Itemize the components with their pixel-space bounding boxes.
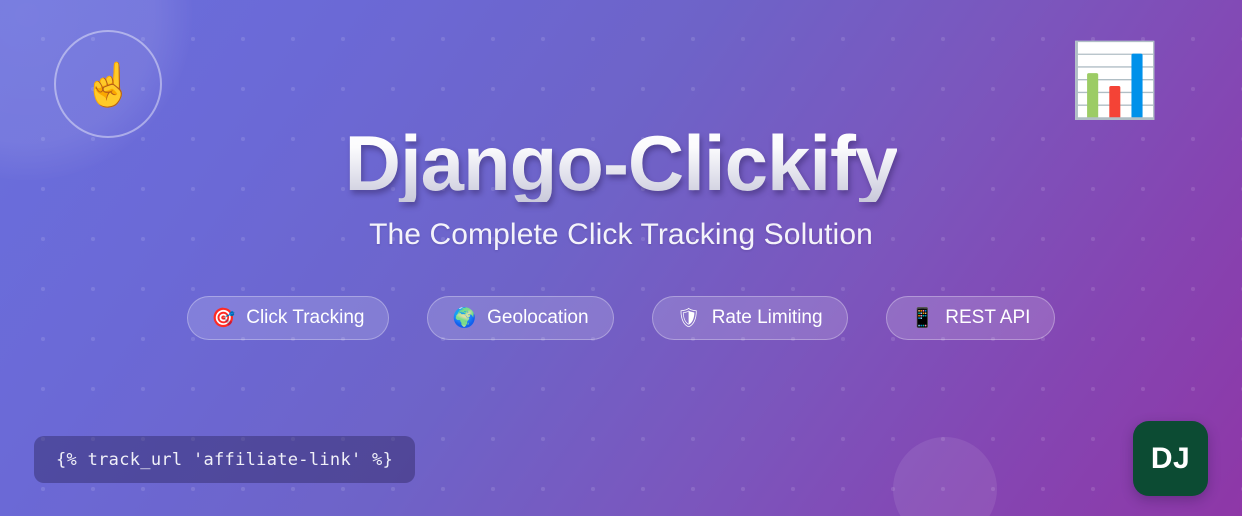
- hero-banner: ☝ 📊 Django-Clickify The Complete Click T…: [0, 0, 1242, 516]
- feature-pill-label: REST API: [945, 307, 1030, 329]
- feature-pill-rest-api[interactable]: 📱 REST API: [886, 296, 1056, 340]
- target-icon: 🎯: [212, 309, 236, 328]
- hero-content: Django-Clickify The Complete Click Track…: [0, 124, 1242, 340]
- page-title: Django-Clickify: [345, 124, 898, 202]
- bar-chart-icon: 📊: [1070, 45, 1160, 117]
- shield-icon: 🛡: [677, 309, 701, 328]
- page-subtitle: The Complete Click Tracking Solution: [369, 218, 873, 252]
- feature-pill-geolocation[interactable]: 🌍 Geolocation: [427, 296, 613, 340]
- pointing-hand-icon: ☝: [83, 64, 135, 106]
- feature-pill-label: Rate Limiting: [712, 307, 823, 329]
- globe-icon: 🌍: [452, 309, 476, 328]
- feature-pill-label: Click Tracking: [246, 307, 364, 329]
- feature-pill-click-tracking[interactable]: 🎯 Click Tracking: [187, 296, 390, 340]
- feature-pill-row: 🎯 Click Tracking 🌍 Geolocation 🛡 Rate Li…: [187, 296, 1056, 340]
- pointer-badge: ☝: [54, 30, 162, 138]
- code-snippet[interactable]: {% track_url 'affiliate-link' %}: [34, 436, 415, 483]
- decorative-blob-bottom: [893, 437, 997, 516]
- feature-pill-rate-limiting[interactable]: 🛡 Rate Limiting: [652, 296, 848, 340]
- django-brand-badge: DJ: [1133, 421, 1208, 496]
- feature-pill-label: Geolocation: [487, 307, 588, 329]
- mobile-phone-icon: 📱: [911, 309, 935, 328]
